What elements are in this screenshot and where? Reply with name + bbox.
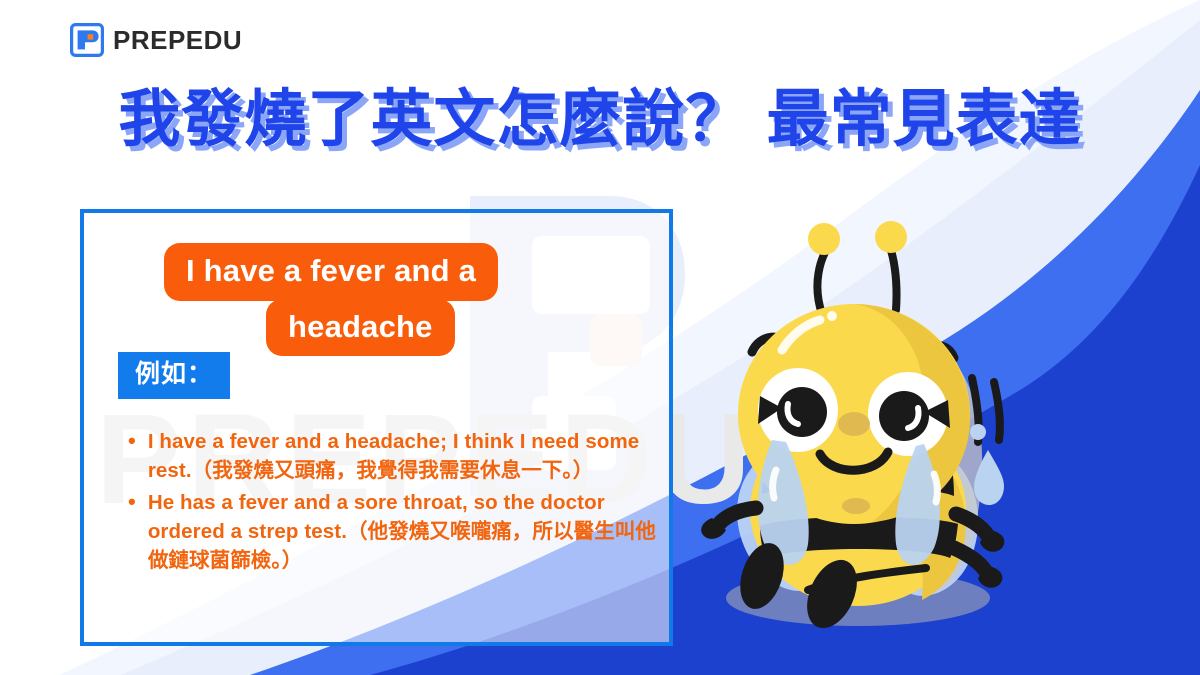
example-list: • I have a fever and a headache; I think… [128, 427, 658, 579]
crying-bee-mascot [690, 218, 1020, 638]
infographic-canvas: PREPEDU PREPEDU 我發燒了英文怎麼說？ 最常見表達 I have … [0, 0, 1200, 675]
page-title: 我發燒了英文怎麼說？ 最常見表達 [0, 84, 1200, 155]
bee-tear-glint-right [934, 474, 937, 502]
bee-tear-droplet-small [970, 424, 986, 440]
prepedu-square-p-logo-icon [70, 23, 104, 57]
bee-antenna-ball-right [875, 221, 907, 253]
bee-motion-line-3 [994, 382, 1000, 440]
bee-pupil-left [777, 387, 827, 437]
bee-antenna-ball-left [808, 223, 840, 255]
bee-nose [838, 412, 870, 436]
list-item-text: He has a fever and a sore throat, so the… [148, 488, 658, 575]
list-item: • I have a fever and a headache; I think… [128, 427, 658, 485]
bee-chin-mark [842, 498, 870, 514]
key-phrase-line-1: I have a fever and a [164, 243, 498, 301]
key-phrase-line-2: headache [266, 299, 455, 357]
bee-head-highlight-dot [827, 311, 837, 321]
list-item: • He has a fever and a sore throat, so t… [128, 488, 658, 575]
bee-tear-glint-left [773, 470, 776, 498]
curve-white-notch [1000, 660, 1200, 675]
bee-pupil-right [879, 391, 929, 441]
brand-logo[interactable]: PREPEDU [70, 23, 242, 57]
key-phrase-highlight: I have a fever and a headache [164, 243, 604, 356]
list-item-text: I have a fever and a headache; I think I… [148, 427, 658, 485]
bullet-dot-icon: • [128, 427, 136, 485]
bullet-dot-icon: • [128, 488, 136, 575]
brand-logo-text: PREPEDU [113, 27, 242, 53]
example-label: 例如： [118, 352, 230, 399]
